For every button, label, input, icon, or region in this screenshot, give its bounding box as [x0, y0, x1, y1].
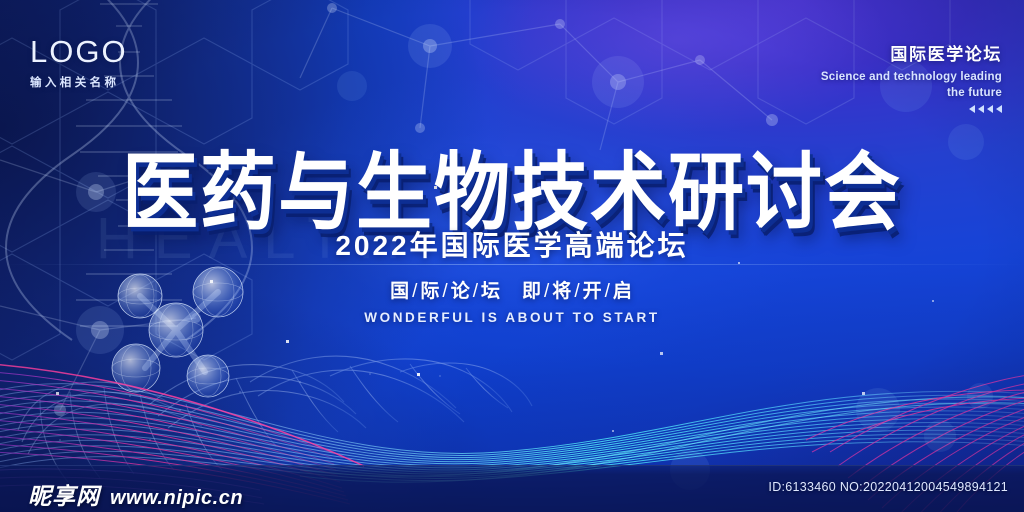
- subtitle-wrap: 2022年国际医学高端论坛: [0, 224, 1024, 264]
- header-right-block: 国际医学论坛 Science and technology leading th…: [821, 40, 1002, 113]
- slogan-char: 际: [420, 281, 441, 302]
- horizontal-divider: [0, 264, 1024, 265]
- brand-block[interactable]: 昵享网 www.nipic.cn: [28, 477, 243, 511]
- forum-tagline-line2: the future: [821, 86, 1002, 102]
- slogan-cn: 国/际/论/坛即/将/开/启: [0, 276, 1024, 303]
- slogan-char: 将: [552, 281, 573, 302]
- logo-block[interactable]: LOGO 输入相关名称: [30, 36, 128, 90]
- slogan-en: WONDERFUL IS ABOUT TO START: [0, 310, 1024, 325]
- slogan-separator: /: [604, 281, 613, 302]
- slogan-separator: /: [441, 281, 450, 302]
- slogan-char: 即: [522, 281, 543, 302]
- triangle-left-icon: [969, 105, 975, 113]
- brand-name-cn: 昵享网: [28, 477, 100, 511]
- forum-tagline-en: Science and technology leading the futur…: [821, 70, 1002, 101]
- slogan-char: 论: [451, 281, 472, 302]
- image-id-code: ID:6133460 NO:20220412004549894121: [768, 480, 1008, 494]
- poster-canvas: HEALTH: [0, 0, 1024, 512]
- logo-text: LOGO: [30, 36, 128, 67]
- slogan-separator: /: [543, 281, 552, 302]
- triangle-left-icon: [996, 105, 1002, 113]
- slogan-char: 开: [583, 281, 604, 302]
- slogan-char: 国: [390, 281, 411, 302]
- footer-bar: 昵享网 www.nipic.cn ID:6133460 NO:202204120…: [0, 465, 1024, 512]
- slogan-wrap: 国/际/论/坛即/将/开/启 WONDERFUL IS ABOUT TO STA…: [0, 276, 1024, 325]
- logo-subtitle: 输入相关名称: [30, 74, 128, 90]
- slogan-separator: /: [573, 281, 582, 302]
- triangle-left-icon: [978, 105, 984, 113]
- arrow-group: [821, 105, 1002, 113]
- page-subtitle: 2022年国际医学高端论坛: [335, 224, 688, 264]
- slogan-char: 坛: [481, 281, 502, 302]
- slogan-separator: /: [411, 281, 420, 302]
- triangle-left-icon: [987, 105, 993, 113]
- brand-url[interactable]: www.nipic.cn: [110, 487, 243, 510]
- slogan-separator: /: [472, 281, 481, 302]
- slogan-char: 启: [613, 281, 634, 302]
- forum-tagline-line1: Science and technology leading: [821, 70, 1002, 86]
- forum-name-cn: 国际医学论坛: [821, 40, 1002, 65]
